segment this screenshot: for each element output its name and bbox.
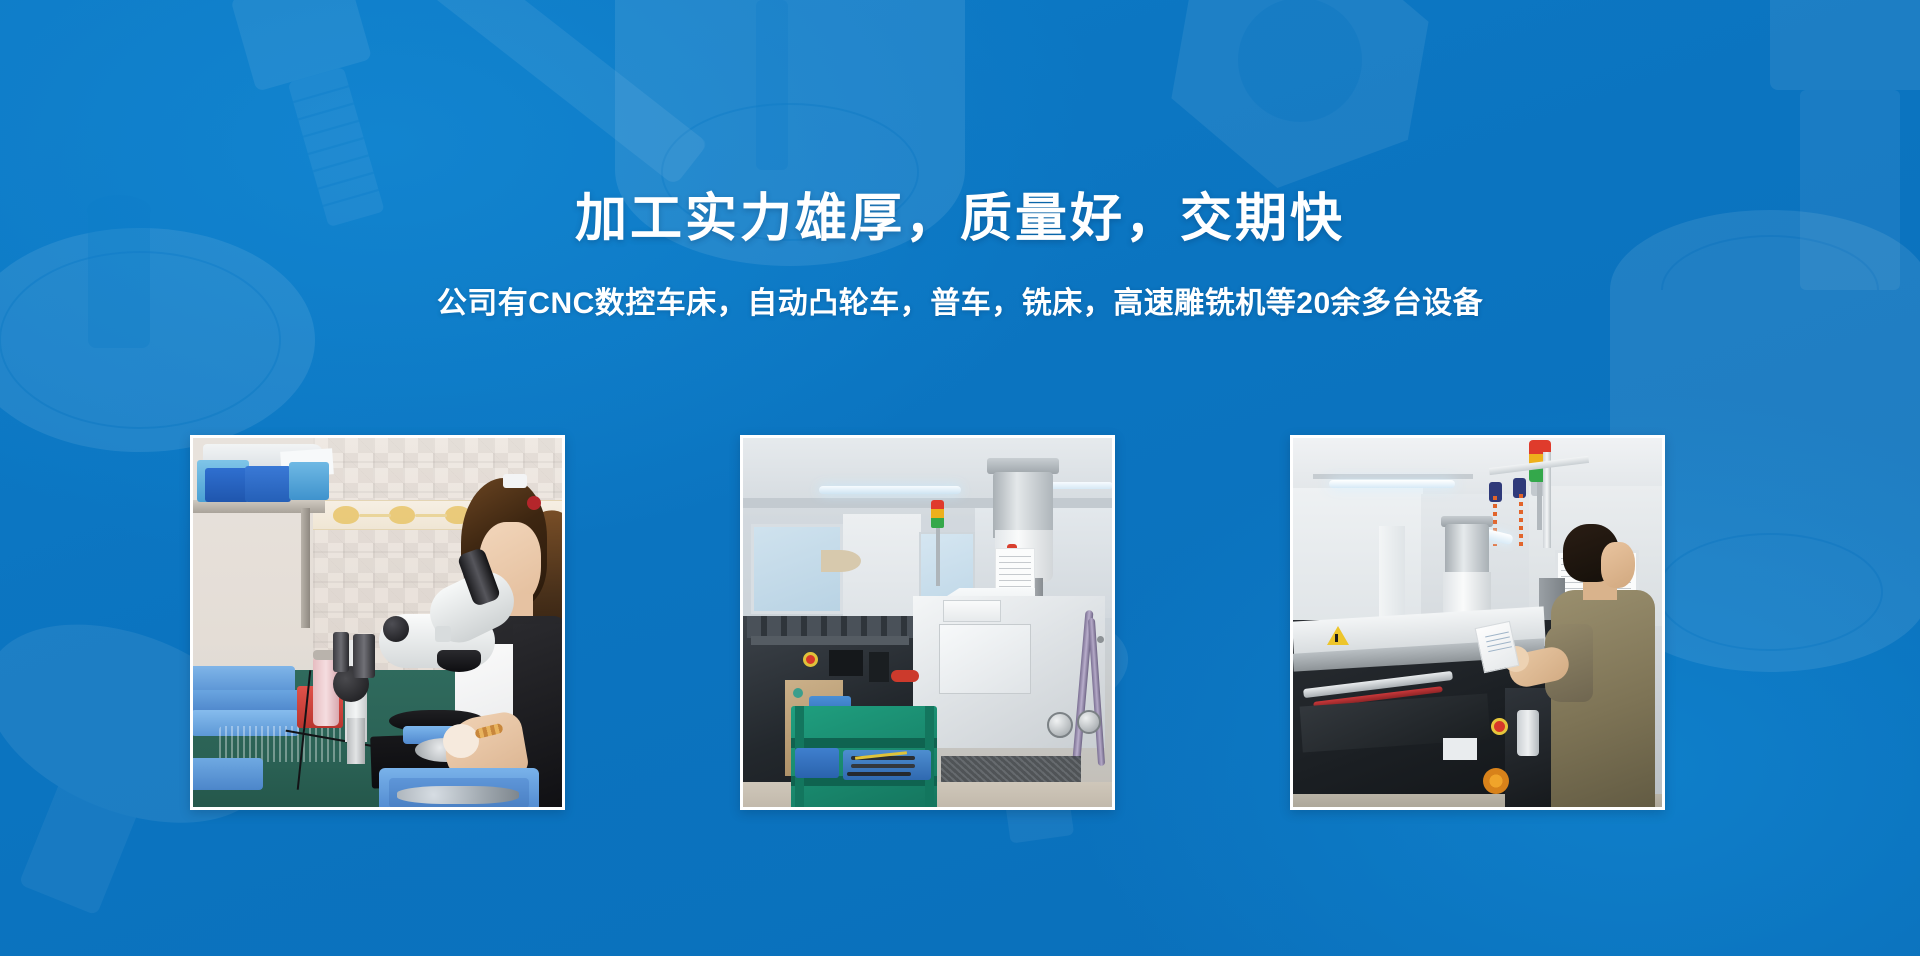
page-title: 加工实力雄厚，质量好，交期快 <box>0 188 1920 250</box>
photo-cnc-machining-center <box>743 438 1112 807</box>
photo-gallery <box>190 435 1665 810</box>
promo-banner: 加工实力雄厚，质量好，交期快 公司有CNC数控车床，自动凸轮车，普车，铣床，高速… <box>0 0 1920 956</box>
banner-copy: 加工实力雄厚，质量好，交期快 公司有CNC数控车床，自动凸轮车，普车，铣床，高速… <box>0 188 1920 323</box>
photo-card-operator-at-cnc-lathe[interactable] <box>1290 435 1665 810</box>
photo-card-cnc-machining-center[interactable] <box>740 435 1115 810</box>
photo-quality-inspection <box>193 438 562 807</box>
photo-operator-at-cnc-lathe <box>1293 438 1662 807</box>
photo-card-quality-inspection[interactable] <box>190 435 565 810</box>
page-subtitle: 公司有CNC数控车床，自动凸轮车，普车，铣床，高速雕铣机等20余多台设备 <box>0 284 1920 323</box>
